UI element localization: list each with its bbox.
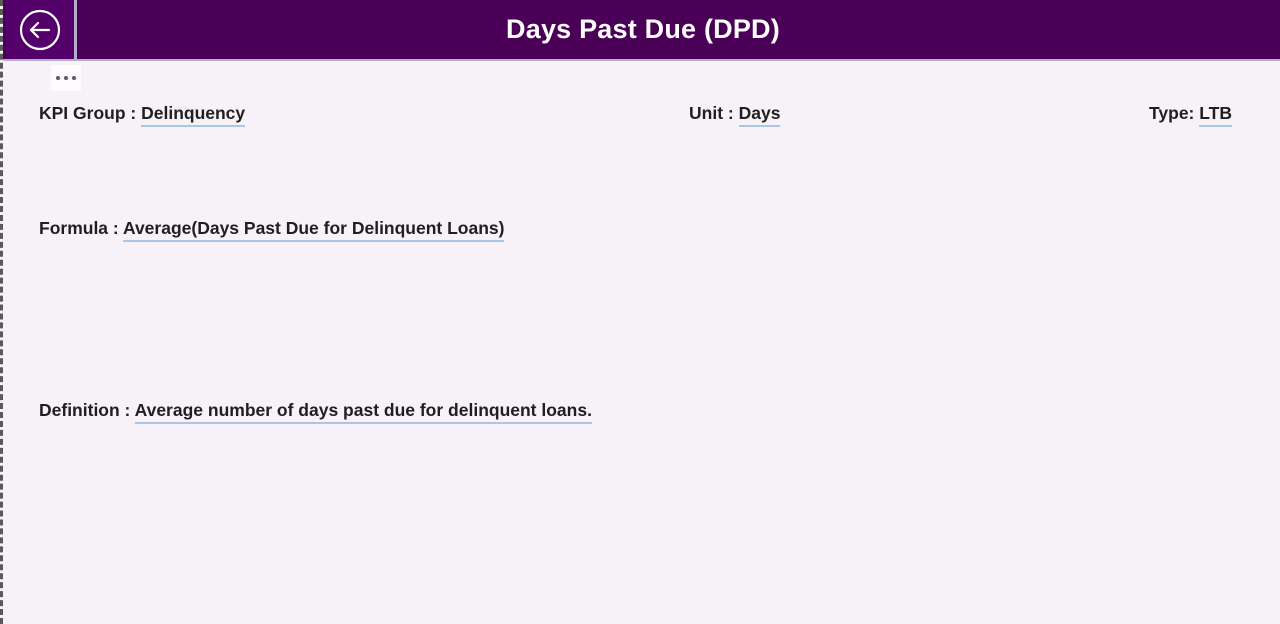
- back-button[interactable]: [6, 0, 77, 61]
- type-field: Type: LTB: [1149, 103, 1232, 124]
- ellipsis-icon-dot: [56, 76, 60, 80]
- type-label: Type:: [1149, 103, 1194, 123]
- kpi-group-field: KPI Group : Delinquency: [39, 103, 245, 124]
- definition-field: Definition : Average number of days past…: [39, 400, 592, 421]
- unit-label: Unit :: [689, 103, 734, 123]
- kpi-group-value[interactable]: Delinquency: [141, 103, 245, 127]
- formula-field: Formula : Average(Days Past Due for Deli…: [39, 218, 504, 239]
- unit-field: Unit : Days: [689, 103, 780, 124]
- formula-label: Formula :: [39, 218, 119, 238]
- header-bar: Days Past Due (DPD): [3, 0, 1280, 61]
- kpi-group-label: KPI Group :: [39, 103, 136, 123]
- definition-label: Definition :: [39, 400, 130, 420]
- kpi-detail-page: Days Past Due (DPD) KPI Group : Delinque…: [0, 0, 1280, 624]
- ellipsis-icon-dot: [64, 76, 68, 80]
- definition-value[interactable]: Average number of days past due for deli…: [135, 400, 592, 424]
- type-value[interactable]: LTB: [1199, 103, 1232, 127]
- back-arrow-circle-icon: [18, 8, 62, 52]
- formula-value[interactable]: Average(Days Past Due for Delinquent Loa…: [123, 218, 505, 242]
- ellipsis-icon-dot: [72, 76, 76, 80]
- overflow-menu-button[interactable]: [51, 65, 81, 91]
- unit-value[interactable]: Days: [739, 103, 781, 127]
- page-title: Days Past Due (DPD): [3, 0, 1280, 59]
